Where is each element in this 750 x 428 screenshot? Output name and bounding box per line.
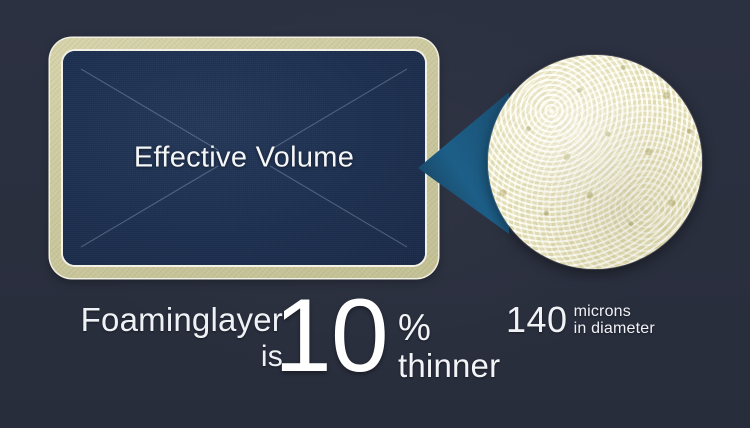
micron-unit-line-2: in diameter: [574, 320, 655, 337]
micron-unit-line-1: microns: [574, 303, 655, 320]
foam-texture: [488, 55, 702, 269]
micron-value: 140: [506, 300, 568, 340]
headline-left-group: Foaminglayer is: [78, 300, 283, 374]
foam-micrograph-circle: [488, 55, 702, 269]
effective-volume-panel: Effective Volume: [50, 38, 438, 278]
effective-volume-label: Effective Volume: [63, 142, 425, 175]
headline-word-thinner: thinner: [398, 348, 500, 384]
headline-right-group: % thinner: [398, 308, 500, 384]
headline-word-foaminglayer: Foaminglayer: [78, 300, 283, 340]
headline-word-is: is: [78, 340, 283, 374]
headline-block: Foaminglayer is 10 % thinner: [78, 300, 478, 395]
infographic-canvas: Effective Volume Foaminglayer is 10 % th…: [0, 0, 750, 428]
micron-caption: 140 microns in diameter: [506, 300, 655, 340]
headline-number-10: 10: [274, 284, 388, 388]
micron-unit-group: microns in diameter: [574, 300, 655, 337]
headline-percent-symbol: %: [398, 308, 500, 348]
effective-volume-inner-area: Effective Volume: [63, 51, 425, 265]
